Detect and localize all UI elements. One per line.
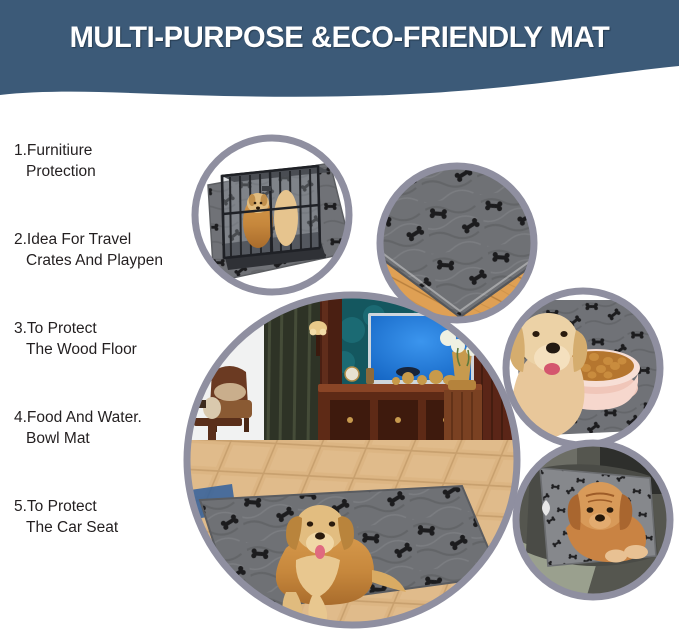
- food-bowl-photo: [506, 291, 660, 445]
- photo-collage: [0, 0, 679, 642]
- car-seat-photo: [515, 443, 670, 602]
- wood-floor-photo: [380, 166, 534, 320]
- dog-crate-photo: [195, 138, 352, 292]
- infographic-page: MULTI-PURPOSE &ECO-FRIENDLY MAT 1.Furnit…: [0, 0, 679, 642]
- living-room-photo: [187, 295, 517, 632]
